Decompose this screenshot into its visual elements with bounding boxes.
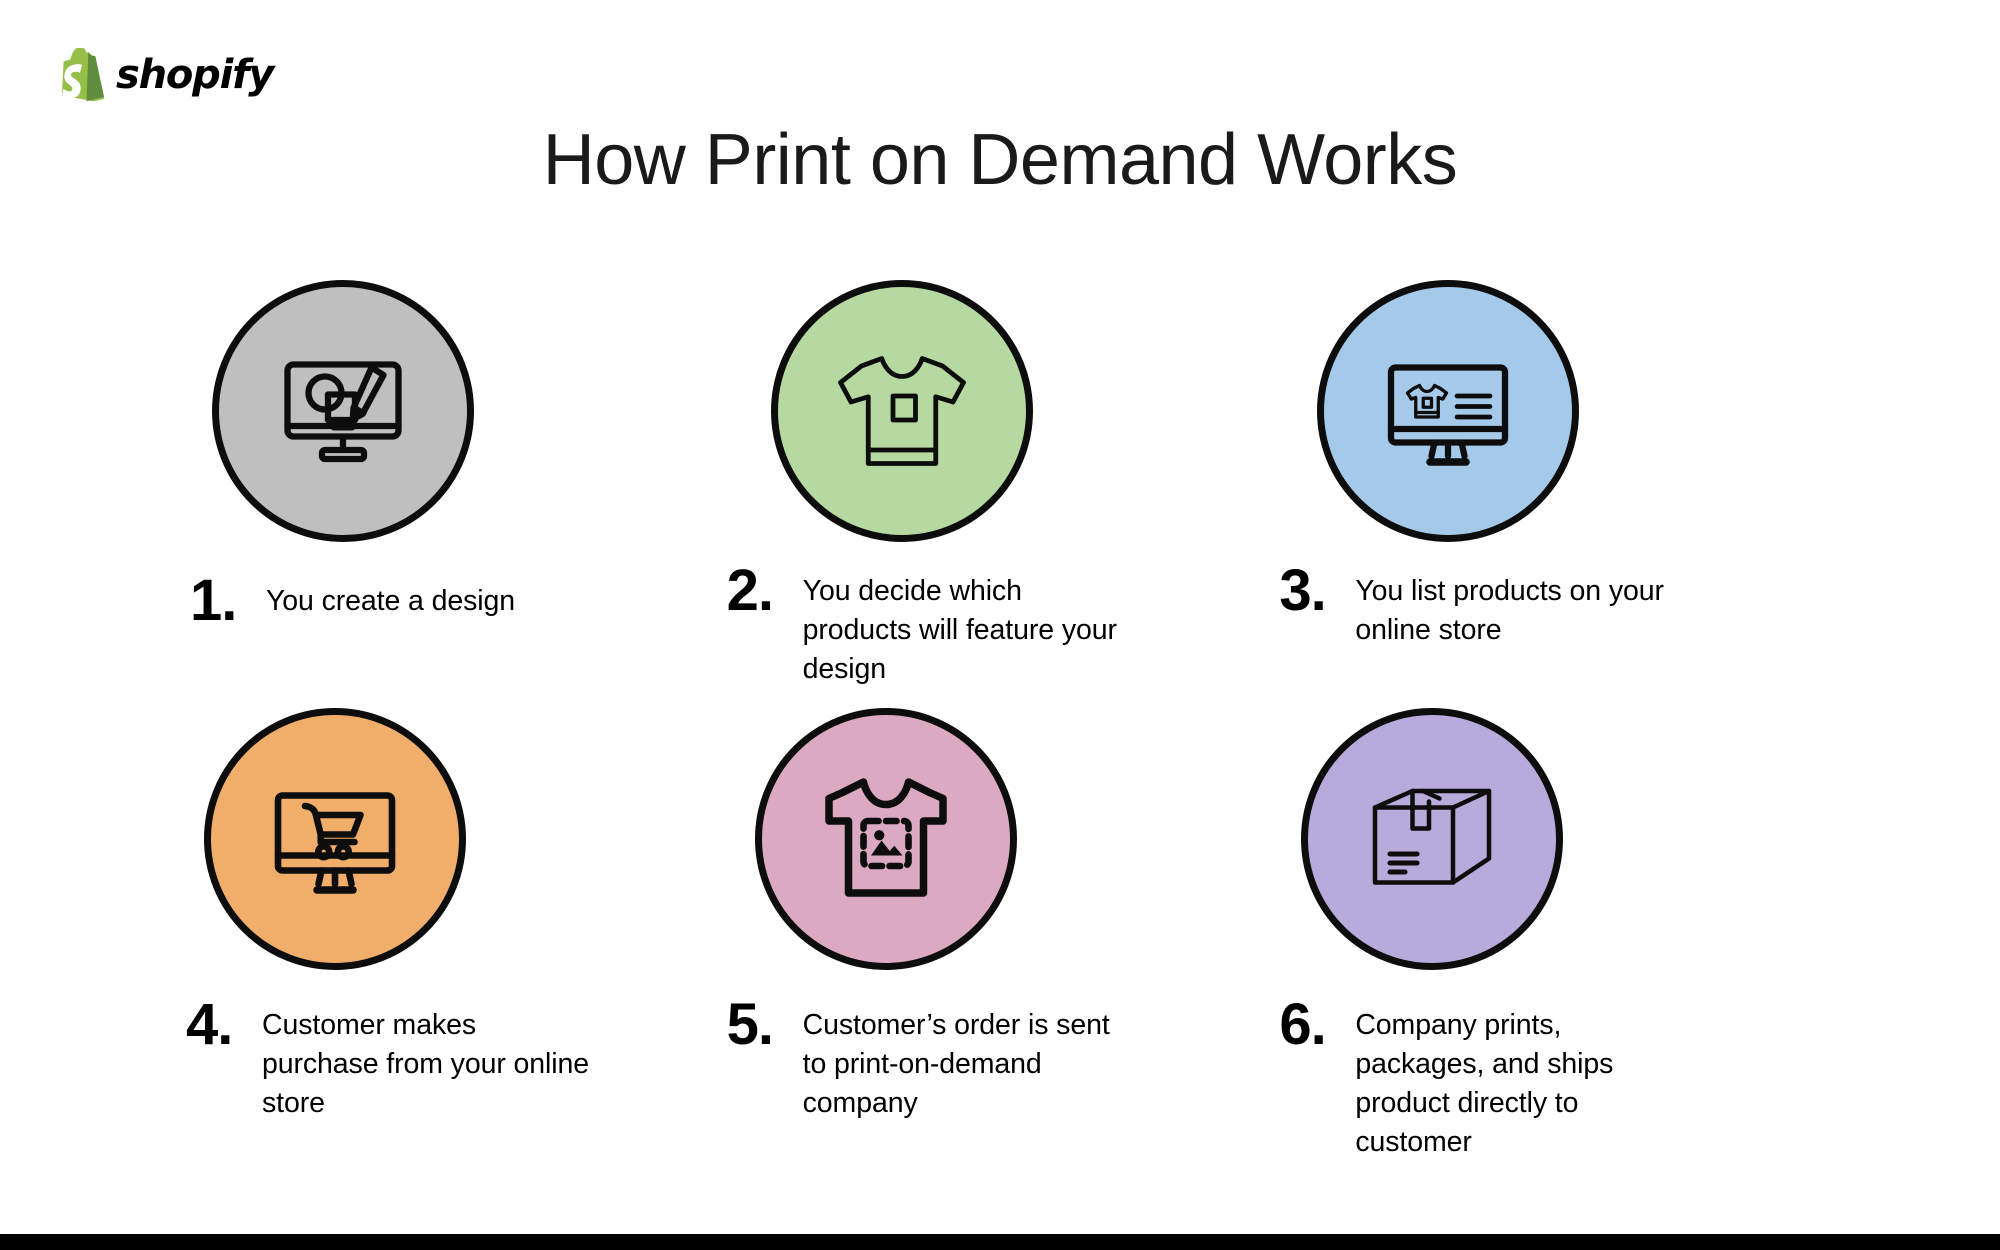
steps-grid: 1. You create a design 2. You decide whi… [180,280,1820,1161]
step-5-caption: 5. Customer’s order is sent to print-on-… [727,998,1274,1122]
step-5-label: Customer’s order is sent to print-on-dem… [803,998,1133,1122]
step-5-number: 5. [727,998,803,1051]
step-4-circle [204,708,466,970]
design-monitor-icon [268,336,418,486]
online-store-monitor-icon [1373,336,1523,486]
step-6-number: 6. [1279,998,1355,1051]
step-1-label: You create a design [266,564,515,621]
step-1-circle [212,280,474,542]
step-4: 4. Customer makes purchase from your onl… [180,708,727,1161]
tshirt-icon [827,336,977,486]
step-3-number: 3. [1279,564,1355,617]
shopify-bag-icon [62,48,106,102]
shipping-box-icon [1357,764,1507,914]
step-2-caption: 2. You decide which products will featur… [727,564,1274,688]
tshirt-print-area-icon [811,764,961,914]
step-4-number: 4. [186,998,262,1051]
step-2-label: You decide which products will feature y… [803,564,1133,688]
shopify-wordmark: shopify [116,55,273,95]
step-6-caption: 6. Company prints, packages, and ships p… [1279,998,1820,1161]
step-6-label: Company prints, packages, and ships prod… [1355,998,1685,1161]
bottom-bar [0,1234,2000,1250]
step-6: 6. Company prints, packages, and ships p… [1273,708,1820,1161]
shopping-cart-monitor-icon [260,764,410,914]
step-5: 5. Customer’s order is sent to print-on-… [727,708,1274,1161]
step-3-circle [1317,280,1579,542]
step-5-circle [755,708,1017,970]
step-2: 2. You decide which products will featur… [727,280,1274,688]
step-2-number: 2. [727,564,803,617]
step-3-caption: 3. You list products on your online stor… [1279,564,1820,650]
page-title: How Print on Demand Works [0,124,2000,196]
step-4-label: Customer makes purchase from your online… [262,998,592,1122]
shopify-logo: shopify [62,48,273,102]
step-1: 1. You create a design [180,280,727,688]
step-1-number: 1. [190,564,266,627]
step-3: 3. You list products on your online stor… [1273,280,1820,688]
step-6-circle [1301,708,1563,970]
step-2-circle [771,280,1033,542]
step-4-caption: 4. Customer makes purchase from your onl… [186,998,727,1122]
step-1-caption: 1. You create a design [190,564,727,627]
step-3-label: You list products on your online store [1355,564,1685,650]
